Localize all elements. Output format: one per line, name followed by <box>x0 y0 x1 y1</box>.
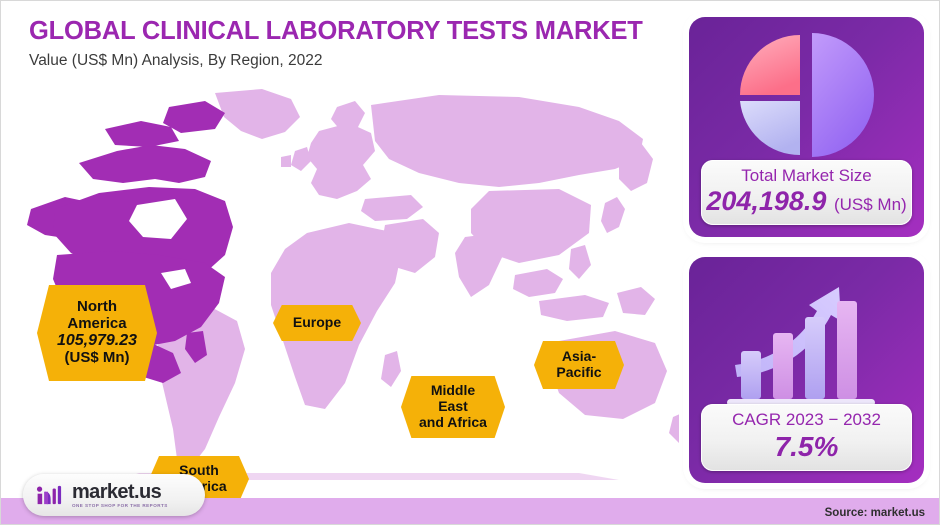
source-label: Source: market.us <box>825 507 925 519</box>
region-label-line-1: Europe <box>293 315 341 331</box>
region-label-line-2: East <box>438 399 468 415</box>
market-size-value-box: Total Market Size 204,198.9 (US$ Mn) <box>701 160 912 225</box>
region-value: 105,979.23 <box>57 332 137 350</box>
region-badge-middle-east-and-africa[interactable]: Middle East and Africa <box>401 376 505 438</box>
region-label-line-2: Pacific <box>556 365 601 381</box>
pie-chart-icon <box>722 29 892 161</box>
page-subtitle: Value (US$ Mn) Analysis, By Region, 2022 <box>29 52 669 71</box>
region-label-line-1: Asia- <box>562 349 596 365</box>
region-unit: (US$ Mn) <box>65 350 130 367</box>
pie-chart-figure <box>689 27 924 163</box>
cagr-value: 7.5% <box>705 431 908 463</box>
region-label-line-3: and Africa <box>419 415 487 431</box>
header: GLOBAL CLINICAL LABORATORY TESTS MARKET … <box>29 17 669 71</box>
region-badge-asia-pacific[interactable]: Asia- Pacific <box>534 341 624 389</box>
growth-chart-figure <box>689 271 924 421</box>
market-us-logo[interactable]: market.us ONE STOP SHOP FOR THE REPORTS <box>23 474 205 516</box>
market-size-value: 204,198.9 <box>706 186 826 216</box>
cagr-value-box: CAGR 2023 − 2032 7.5% <box>701 404 912 471</box>
growth-bar-chart-icon <box>717 273 897 419</box>
market-size-label: Total Market Size <box>705 166 908 186</box>
world-map-svg <box>19 87 679 482</box>
card-cagr: CAGR 2023 − 2032 7.5% <box>689 257 924 483</box>
card-total-market-size: Total Market Size 204,198.9 (US$ Mn) <box>689 17 924 237</box>
logo-wordmark: market.us <box>72 482 168 502</box>
market-size-unit: (US$ Mn) <box>834 195 907 214</box>
infographic-root: GLOBAL CLINICAL LABORATORY TESTS MARKET … <box>0 0 940 525</box>
logo-text-wrap: market.us ONE STOP SHOP FOR THE REPORTS <box>72 482 168 509</box>
logo-tagline: ONE STOP SHOP FOR THE REPORTS <box>72 504 168 509</box>
market-us-logo-icon <box>35 483 65 507</box>
cagr-label: CAGR 2023 − 2032 <box>705 410 908 430</box>
region-badge-europe[interactable]: Europe <box>273 305 361 341</box>
region-label-line-1: North <box>77 299 117 316</box>
region-badge-north-america[interactable]: North America 105,979.23 (US$ Mn) <box>37 285 157 381</box>
market-size-value-row: 204,198.9 (US$ Mn) <box>705 186 908 217</box>
page-title: GLOBAL CLINICAL LABORATORY TESTS MARKET <box>29 17 669 45</box>
region-label-line-1: Middle <box>431 383 475 399</box>
map-container: North America 105,979.23 (US$ Mn) South … <box>19 87 679 482</box>
region-label-line-2: America <box>67 316 126 333</box>
